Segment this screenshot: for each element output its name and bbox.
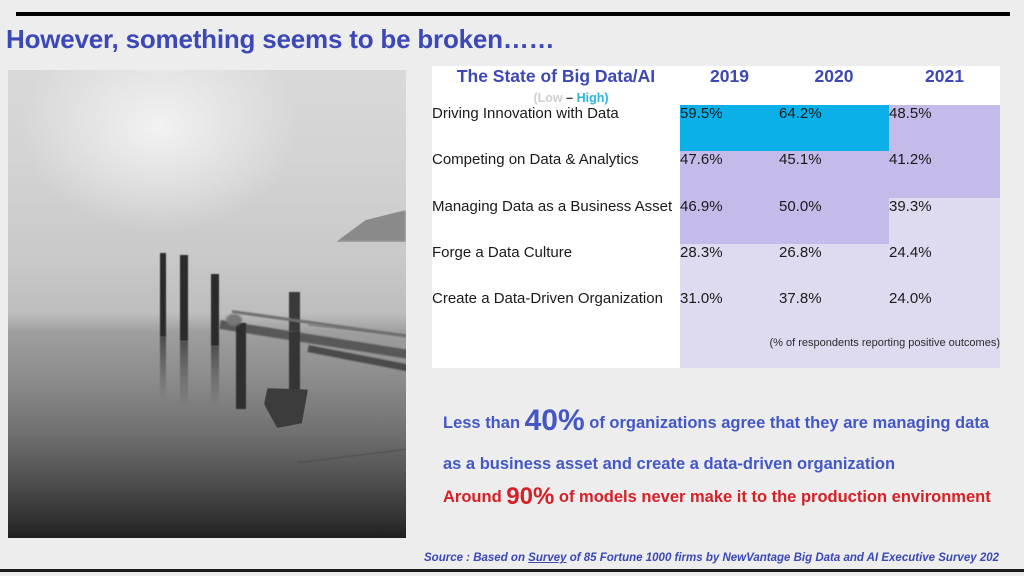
- source-prefix: Source : Based on: [424, 552, 528, 564]
- photo-piling-1: [160, 253, 166, 337]
- table-header-year-2020: 2020: [779, 66, 889, 105]
- photo-pier-post-near: [236, 323, 246, 409]
- footnote-spacer: [432, 337, 680, 368]
- source-survey-link[interactable]: Survey: [528, 552, 566, 564]
- cell-forge-2020: 26.8%: [779, 244, 889, 290]
- cell-driving-innovation-2019: 59.5%: [680, 105, 779, 151]
- statement-red-lead: Around: [443, 488, 506, 506]
- table-title: The State of Big Data/AI: [432, 66, 680, 87]
- source-citation: Source : Based on Survey of 85 Fortune 1…: [424, 552, 1024, 564]
- cell-managing-2020: 50.0%: [779, 198, 889, 244]
- cell-forge-2021: 24.4%: [889, 244, 1000, 290]
- cell-competing-2021: 41.2%: [889, 151, 1000, 197]
- table-row: Driving Innovation with Data 59.5% 64.2%…: [432, 105, 1000, 151]
- table-row: Create a Data-Driven Organization 31.0% …: [432, 290, 1000, 336]
- statement-90-percent: Around 90% of models never make it to th…: [443, 474, 1003, 520]
- cell-create-2021: 24.0%: [889, 290, 1000, 336]
- table-header-row: The State of Big Data/AI (Low – High) 20…: [432, 66, 1000, 105]
- subtitle-low-label: (Low: [533, 91, 562, 105]
- table-footnote: (% of respondents reporting positive out…: [680, 337, 1000, 368]
- cell-driving-innovation-2020: 64.2%: [779, 105, 889, 151]
- photo-water-sky-gradient: [8, 70, 406, 538]
- photo-pier-post-mid: [289, 332, 300, 398]
- broken-pier-photo: [8, 70, 406, 538]
- cell-competing-2019: 47.6%: [680, 151, 779, 197]
- top-divider-rule: [16, 12, 1010, 16]
- subtitle-dash: –: [563, 91, 577, 105]
- page-title: However, something seems to be broken……: [6, 24, 554, 55]
- footer-divider-rule: [0, 569, 1024, 572]
- cell-managing-2021: 39.3%: [889, 198, 1000, 244]
- cell-competing-2020: 45.1%: [779, 151, 889, 197]
- cell-create-2020: 37.8%: [779, 290, 889, 336]
- table-header-title-cell: The State of Big Data/AI (Low – High): [432, 66, 680, 105]
- row-label-managing-data: Managing Data as a Business Asset: [432, 198, 680, 244]
- table-header-year-2021: 2021: [889, 66, 1000, 105]
- row-label-forge-culture: Forge a Data Culture: [432, 244, 680, 290]
- table-row: Competing on Data & Analytics 47.6% 45.1…: [432, 151, 1000, 197]
- source-suffix: of 85 Fortune 1000 firms by NewVantage B…: [567, 552, 999, 564]
- statement-blue-lead: Less than: [443, 414, 525, 432]
- table-header-year-2019: 2019: [680, 66, 779, 105]
- cell-create-2019: 31.0%: [680, 290, 779, 336]
- row-label-driving-innovation: Driving Innovation with Data: [432, 105, 680, 151]
- statement-40-percent: Less than 40% of organizations agree tha…: [443, 392, 1003, 480]
- table-row: Forge a Data Culture 28.3% 26.8% 24.4%: [432, 244, 1000, 290]
- photo-piling-4: [289, 292, 300, 334]
- photo-piling-2: [180, 255, 188, 341]
- row-label-create-org: Create a Data-Driven Organization: [432, 290, 680, 336]
- cell-driving-innovation-2021: 48.5%: [889, 105, 1000, 151]
- statement-blue-number: 40%: [525, 404, 585, 437]
- table-subtitle: (Low – High): [432, 91, 680, 105]
- subtitle-high-label: High): [577, 91, 609, 105]
- photo-piling-2-reflection: [180, 341, 188, 407]
- statement-red-rest: of models never make it to the productio…: [554, 488, 990, 506]
- state-of-big-data-table: The State of Big Data/AI (Low – High) 20…: [432, 66, 1000, 368]
- cell-managing-2019: 46.9%: [680, 198, 779, 244]
- photo-piling-3-reflection: [211, 346, 219, 406]
- photo-piling-3: [211, 274, 219, 346]
- table-footnote-row: (% of respondents reporting positive out…: [432, 337, 1000, 368]
- statement-red-number: 90%: [506, 483, 554, 510]
- row-label-competing-on-data: Competing on Data & Analytics: [432, 151, 680, 197]
- table-row: Managing Data as a Business Asset 46.9% …: [432, 198, 1000, 244]
- cell-forge-2019: 28.3%: [680, 244, 779, 290]
- photo-piling-1-reflection: [160, 337, 166, 399]
- photo-pier-knob: [226, 314, 242, 326]
